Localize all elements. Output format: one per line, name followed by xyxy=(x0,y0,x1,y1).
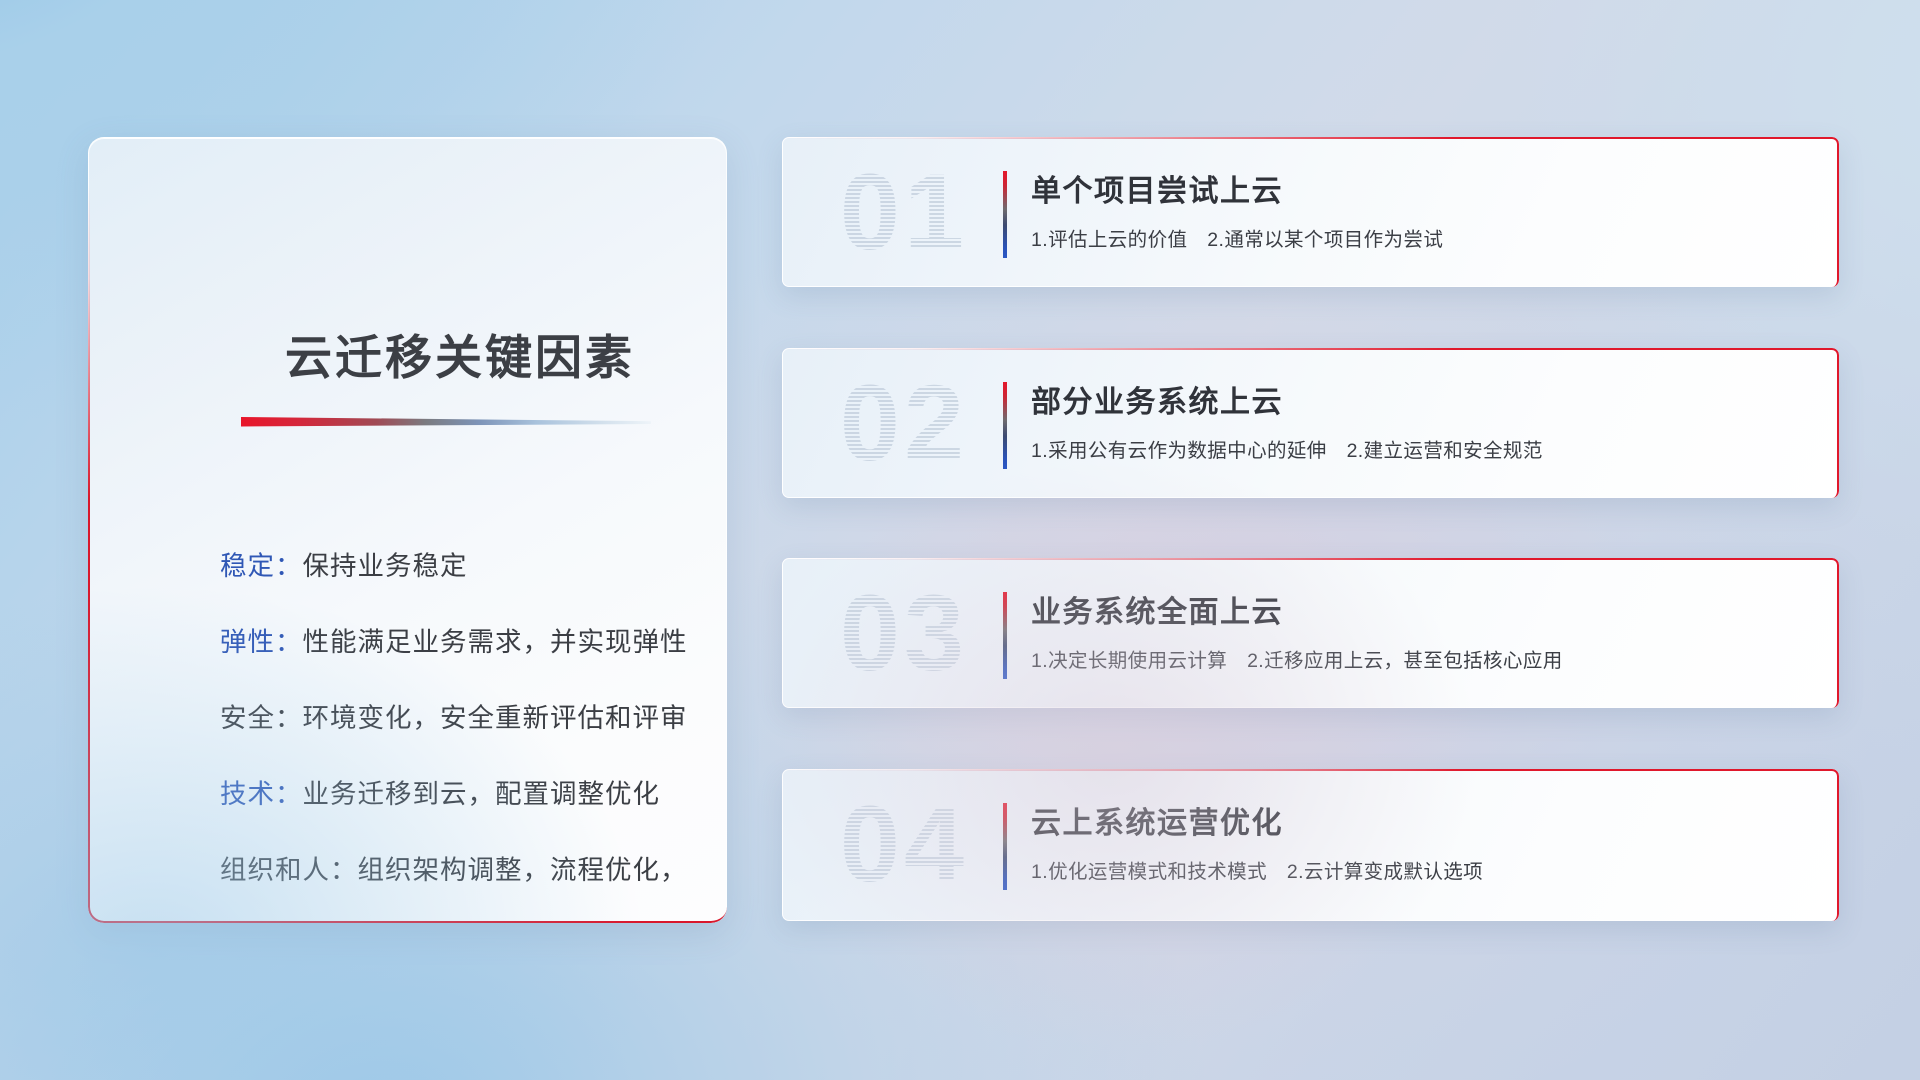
key-factors-list: 稳定：保持业务稳定 弹性：性能满足业务需求，并实现弹性 安全：环境变化，安全重新… xyxy=(220,528,690,923)
page-title: 云迁移关键因素 xyxy=(285,319,635,388)
list-item: 弹性：性能满足业务需求，并实现弹性 xyxy=(220,604,690,680)
stage-subtitle: 1.决定长期使用云计算 2.迁移应用上云，甚至包括核心应用 xyxy=(1031,644,1563,673)
stage-subtitle: 1.评估上云的价值 2.通常以某个项目作为尝试 xyxy=(1031,223,1443,252)
list-item: 技术：业务迁移到云，配置调整优化 xyxy=(220,756,690,832)
stage-card-04[interactable]: 04 云上系统运营优化 1.优化运营模式和技术模式 2.云计算变成默认选项 xyxy=(782,769,1839,921)
list-item: 组织和人：组织架构调整，流程优化， xyxy=(220,832,690,908)
stage-number-watermark: 02 xyxy=(809,352,999,494)
stage-number-watermark: 03 xyxy=(809,562,999,704)
slide-canvas: 云迁移关键因素 稳定：保持业务稳定 弹 xyxy=(0,0,1920,1080)
list-item: 稳定：保持业务稳定 xyxy=(220,528,690,604)
list-item-text: 业务迁移到云，配置调整优化 xyxy=(303,779,661,809)
stage-title: 单个项目尝试上云 xyxy=(1031,166,1283,210)
list-item-text: 环境变化，安全重新评估和评审 xyxy=(303,703,688,733)
list-item: 人员技能培训 xyxy=(220,908,690,923)
list-item-label: 弹性： xyxy=(220,627,303,657)
stage-card-03[interactable]: 03 业务系统全面上云 1.决定长期使用云计算 2.迁移应用上云，甚至包括核心应… xyxy=(782,558,1839,708)
stage-accent-bar xyxy=(1003,382,1007,469)
stage-number-watermark: 01 xyxy=(809,141,999,283)
stage-title: 部分业务系统上云 xyxy=(1031,377,1283,421)
list-item-label: 组织和人： xyxy=(220,855,358,885)
list-item-label: 安全： xyxy=(220,703,303,733)
stage-subtitle: 1.采用公有云作为数据中心的延伸 2.建立运营和安全规范 xyxy=(1031,434,1543,463)
stage-card-01[interactable]: 01 单个项目尝试上云 1.评估上云的价值 2.通常以某个项目作为尝试 xyxy=(782,137,1839,287)
stage-title: 业务系统全面上云 xyxy=(1031,587,1283,631)
stage-number-watermark: 04 xyxy=(809,773,999,915)
title-underline-accent xyxy=(241,415,651,428)
stage-title: 云上系统运营优化 xyxy=(1031,798,1283,842)
list-item-text: 性能满足业务需求，并实现弹性 xyxy=(303,627,688,657)
list-item: 安全：环境变化，安全重新评估和评审 xyxy=(220,680,690,756)
stage-card-02[interactable]: 02 部分业务系统上云 1.采用公有云作为数据中心的延伸 2.建立运营和安全规范 xyxy=(782,348,1839,498)
stage-accent-bar xyxy=(1003,171,1007,258)
list-item-text: 保持业务稳定 xyxy=(303,551,468,581)
list-item-label: 稳定： xyxy=(220,551,303,581)
stage-subtitle: 1.优化运营模式和技术模式 2.云计算变成默认选项 xyxy=(1031,855,1483,884)
list-item-label: 技术： xyxy=(220,779,303,809)
list-item-text: 组织架构调整，流程优化， xyxy=(358,855,688,885)
stage-accent-bar xyxy=(1003,592,1007,679)
stage-accent-bar xyxy=(1003,803,1007,890)
key-factors-panel: 云迁移关键因素 稳定：保持业务稳定 弹 xyxy=(88,137,727,923)
